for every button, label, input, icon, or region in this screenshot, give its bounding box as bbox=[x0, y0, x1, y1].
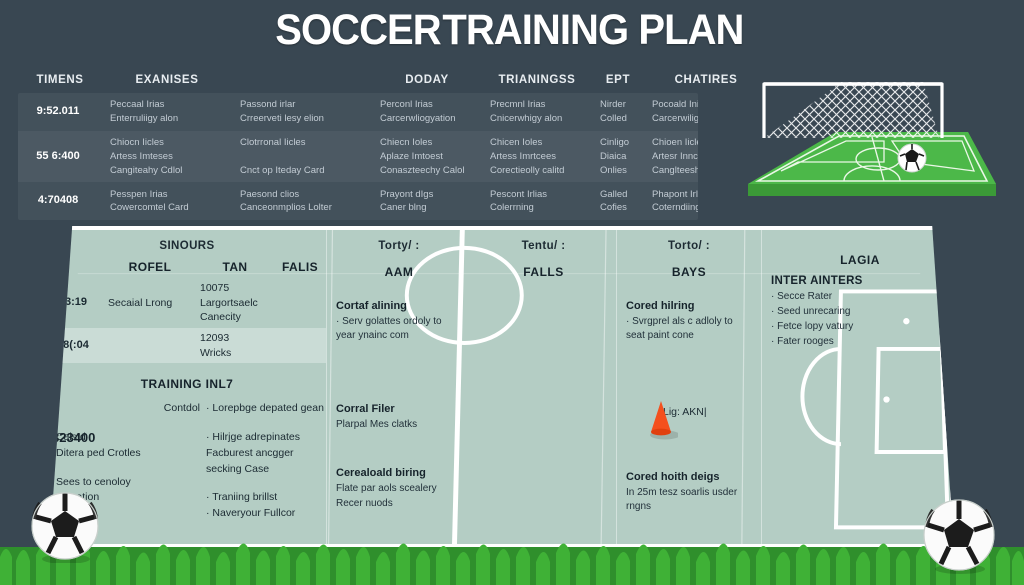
training-field-panel: SINOURS ROFEL TAN FALIS 3:19 Secaial Lro… bbox=[44, 226, 954, 548]
list-item[interactable]: 3:19 Secaial Lrong 10075 Largortsaelc Ca… bbox=[48, 278, 326, 328]
training-cone-icon bbox=[644, 398, 678, 445]
block-body: · Svrgprel als c adloly to seat paint co… bbox=[626, 315, 752, 344]
lower-detail-right: · Lorepbge depated gean · Hilrjge adrepi… bbox=[206, 401, 324, 535]
cell-ept: Nirder Colled bbox=[592, 93, 644, 131]
cell-rofel bbox=[104, 343, 196, 349]
panel-column-bays: Torto/ : BAYS Cored hilring · Svrgprel a… bbox=[616, 230, 761, 544]
grid-header-falis: FALIS bbox=[274, 260, 326, 274]
cell-training: Chicen Ioles Artess Imrtcees Corectieoll… bbox=[482, 131, 592, 182]
text-block: Cortaf alining · Serv golattes ordoly to… bbox=[327, 299, 471, 344]
cell-doday: Prayont dIgs Caner blng bbox=[372, 183, 482, 221]
cell-detail: Passond irlar Crreerveti lesy elion bbox=[232, 93, 372, 131]
grid-header-rofel: ROFEL bbox=[104, 260, 196, 274]
cell-falis bbox=[274, 343, 326, 349]
grid-header-tan: TAN bbox=[196, 260, 274, 274]
list-item: Seed unrecaring bbox=[771, 304, 949, 319]
cell-rofel: Secaial Lrong bbox=[104, 293, 196, 314]
panel-columns: SINOURS ROFEL TAN FALIS 3:19 Secaial Lro… bbox=[48, 230, 950, 544]
list-title: INTER AINTERS bbox=[771, 275, 949, 287]
column-head-bays: BAYS bbox=[617, 252, 761, 279]
section-title-training: TRAINING INL7 bbox=[48, 377, 326, 391]
cell-detail: Paesond clios Canceonmplios Lolter bbox=[232, 183, 372, 221]
text-block: Cerealoald biring Flate par aols scealer… bbox=[327, 466, 471, 511]
column-header-triangingss: TRIANINGSS bbox=[482, 74, 592, 86]
block-heading: Cerealoald biring bbox=[336, 466, 462, 481]
column-super-label: SINOURS bbox=[48, 230, 326, 252]
cell-tan: 10075 Largortsaelc Canecity bbox=[196, 278, 274, 328]
cell-exercise: Chiocn Iicles Artess Imteses Cangiteahy … bbox=[102, 131, 232, 182]
cell-doday: Perconl Irias Carcerwliogyation bbox=[372, 93, 482, 131]
sinours-grid: ROFEL TAN FALIS 3:19 Secaial Lrong 10075… bbox=[48, 260, 326, 363]
column-super-label: Torty/ : bbox=[327, 230, 471, 252]
soccer-ball-icon bbox=[920, 496, 998, 579]
detail-block: Contdol bbox=[56, 401, 200, 417]
grass-strip-icon bbox=[0, 527, 1024, 585]
column-header-exanises: EXANISES bbox=[102, 74, 232, 86]
inter-ainters-list: INTER AINTERS Secce Rater Seed unrecarin… bbox=[762, 275, 954, 349]
cell-training: Precmnl Irias Cnicerwhigy alon bbox=[482, 93, 592, 131]
page-title-part-b: TRAINING PLAN bbox=[442, 6, 743, 55]
bullet-text-2: · Hilrjge adrepinates Facburest ancgger … bbox=[206, 430, 324, 477]
schedule-table-body: 9:52.011 Peccaal Irias Enterruliigy alon… bbox=[18, 93, 698, 220]
column-super-label: Tentu/ : bbox=[471, 230, 616, 252]
text-block: Cored hilring · Svrgprel als c adloly to… bbox=[617, 299, 761, 344]
block-heading: Cored hoith deigs bbox=[626, 470, 752, 485]
cell-falis bbox=[274, 300, 326, 306]
block-heading: Cortaf alining bbox=[336, 299, 462, 314]
cell-time: 8(:04 bbox=[48, 335, 104, 356]
bullet-text-1: · Lorepbge depated gean bbox=[206, 401, 324, 417]
list-item: Fetce lopy vatury bbox=[771, 319, 949, 334]
detail-bullet: · Traniing brillst · Naveryour Fullcor bbox=[206, 490, 324, 522]
schedule-table-header-row: TIMENS EXANISES DODAY TRIANINGSS EPT CHA… bbox=[18, 70, 698, 93]
column-header-timens: TIMENS bbox=[18, 74, 102, 86]
cell-detail: Clotrronal Iicles Cnct op Iteday Card bbox=[232, 131, 372, 182]
cell-time: 4:70408 bbox=[18, 188, 102, 214]
table-row[interactable]: 55 6:400 Chiocn Iicles Artess Imteses Ca… bbox=[18, 131, 698, 182]
block-heading: Corral Filer bbox=[336, 402, 462, 417]
list-item: Fater rooges bbox=[771, 334, 949, 349]
detail-bullet: · Hilrjge adrepinates Facburest ancgger … bbox=[206, 430, 324, 477]
cell-chatires: Pocoald Inias Carcerwiligy alon bbox=[644, 93, 698, 131]
cell-doday: Chiecn Ioles Aplaze Imtoest Conaszteechy… bbox=[372, 131, 482, 182]
cell-training: Pescont Irlias Colerrning bbox=[482, 183, 592, 221]
column-head-falls: FALLS bbox=[471, 252, 616, 279]
soccer-ball-icon bbox=[28, 489, 102, 568]
column-header-doday: DODAY bbox=[372, 74, 482, 86]
column-header-spacer bbox=[232, 74, 372, 86]
sinours-grid-header: ROFEL TAN FALIS bbox=[48, 260, 326, 278]
block-body: Plarpal Mes clatks bbox=[336, 418, 462, 433]
cell-time: 3:19 bbox=[48, 292, 104, 313]
panel-column-aam: Torty/ : AAM Cortaf alining · Serv golat… bbox=[326, 230, 471, 544]
page-title: SOCCERTRAINING PLAN bbox=[0, 6, 1024, 55]
list-item[interactable]: 8(:04 12093 Wricks bbox=[48, 328, 326, 363]
column-super-label: Torto/ : bbox=[617, 230, 761, 252]
cell-tan: 12093 Wricks bbox=[196, 328, 274, 363]
infographic-root: SOCCERTRAINING PLAN TIMENS EXANISES DODA… bbox=[0, 0, 1024, 585]
table-row[interactable]: 9:52.011 Peccaal Irias Enterruliigy alon… bbox=[18, 93, 698, 131]
block-heading: Cored hilring bbox=[626, 299, 752, 314]
column-super-label bbox=[762, 230, 954, 240]
bullet-text-3: · Traniing brillst bbox=[206, 490, 324, 506]
cell-exercise: Pesspen Irias Cowercomtel Card bbox=[102, 183, 232, 221]
cell-time: 55 6:400 bbox=[18, 144, 102, 170]
cell-chatires: Phapont Irlos Coterndiing bbox=[644, 183, 698, 221]
column-head-aam: AAM bbox=[327, 252, 471, 279]
big-number: 323400 bbox=[52, 430, 95, 445]
cell-chatires: Chioen Iicles Artesr Inncees Canglteeshy… bbox=[644, 131, 698, 182]
page-title-part-a: SOCCER bbox=[275, 6, 441, 55]
text-block: Corral Filer Plarpal Mes clatks bbox=[327, 402, 471, 432]
block-body: Flate par aols scealery Recer nuods bbox=[336, 482, 462, 511]
cell-ept: Galled Cofies bbox=[592, 183, 644, 221]
text-block: Cored hoith deigs In 25m tesz soarlis us… bbox=[617, 470, 761, 515]
column-header-ept: EPT bbox=[592, 74, 644, 86]
cell-ept: Cinligo Diaica Onlies bbox=[592, 131, 644, 182]
detail-text: Contdol bbox=[56, 401, 200, 417]
detail-bullet: · Lorepbge depated gean bbox=[206, 401, 324, 417]
block-body: In 25m tesz soarlis usder rngns bbox=[626, 486, 752, 515]
list-item: Secce Rater bbox=[771, 289, 949, 304]
cell-time: 9:52.011 bbox=[18, 99, 102, 125]
soccer-goal-icon bbox=[706, 74, 1006, 224]
panel-column-falls: Tentu/ : FALLS bbox=[471, 230, 616, 544]
column-head-lagia: LAGIA bbox=[762, 240, 954, 267]
bullet-text-4: · Naveryour Fullcor bbox=[206, 506, 324, 522]
schedule-table: TIMENS EXANISES DODAY TRIANINGSS EPT CHA… bbox=[18, 70, 698, 220]
table-row[interactable]: 4:70408 Pesspen Irias Cowercomtel Card P… bbox=[18, 182, 698, 220]
block-body: · Serv golattes ordoly to year ynainc co… bbox=[336, 315, 462, 344]
grid-header-spacer bbox=[48, 260, 104, 274]
cell-exercise: Peccaal Irias Enterruliigy alon bbox=[102, 93, 232, 131]
training-field-panel-wrap: SINOURS ROFEL TAN FALIS 3:19 Secaial Lro… bbox=[0, 222, 1024, 552]
